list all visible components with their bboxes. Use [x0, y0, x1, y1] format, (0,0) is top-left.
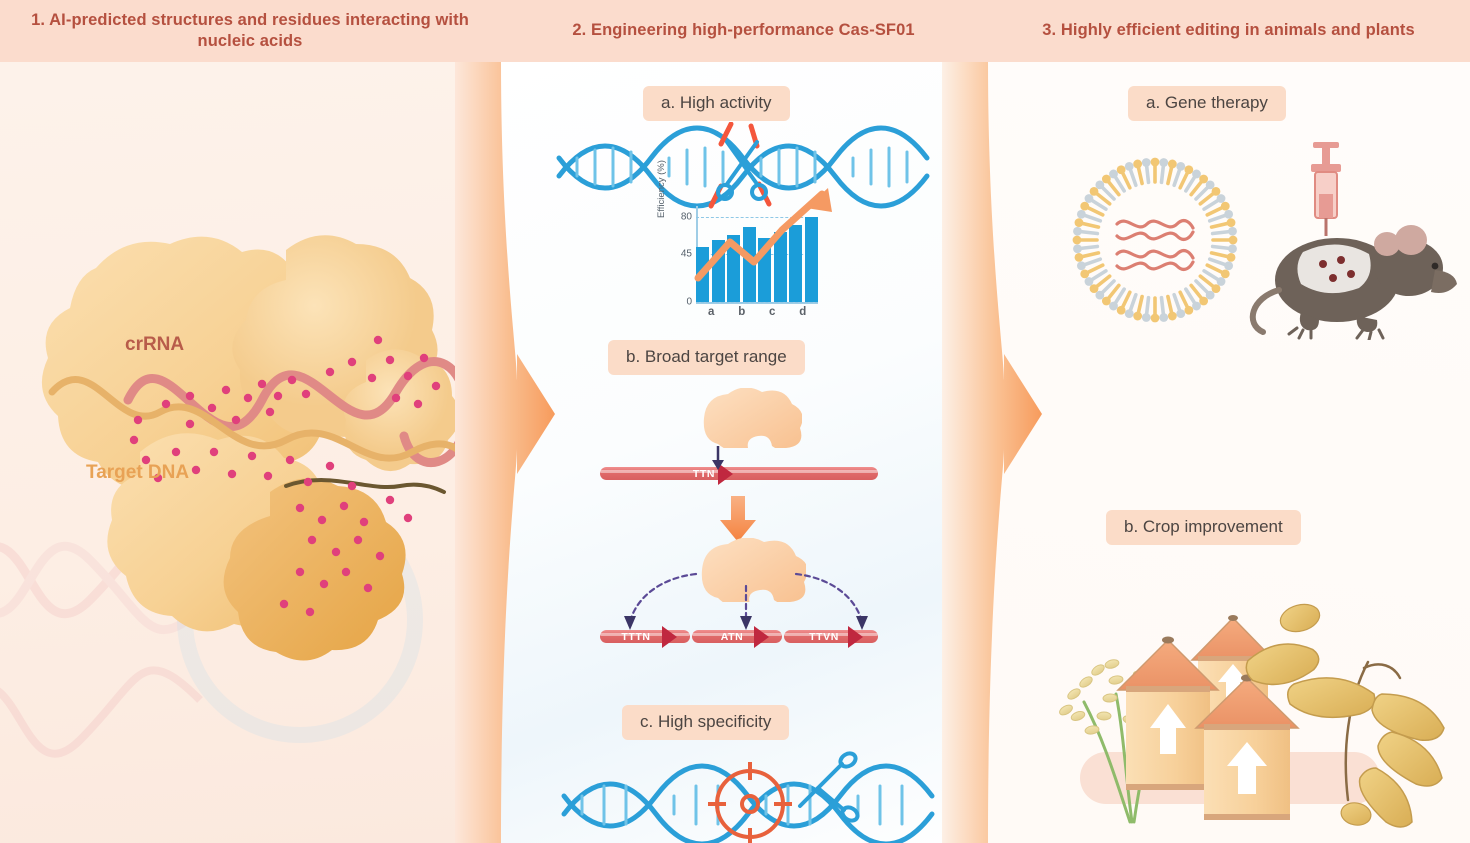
lipid-head-icon — [1151, 314, 1160, 323]
pam-label-2: ATN — [721, 631, 744, 643]
dna-strand-pam-a: TTTN — [600, 630, 690, 643]
efficiency-bar-chart: Efficiency (%) 04580 abcd — [660, 200, 830, 328]
lipid-head-icon — [1176, 162, 1185, 171]
lipid-head-icon — [1168, 312, 1177, 321]
specificity-illustration — [560, 748, 960, 843]
dna-cargo-icon — [1117, 221, 1193, 270]
lipid-head-icon — [1109, 302, 1118, 311]
pam-marker-icon-2 — [754, 626, 769, 648]
panel-2-header-text: 2. Engineering high-performance Cas-SF01 — [572, 20, 914, 41]
lipid-head-icon — [1095, 291, 1104, 300]
lipid-head-icon — [1095, 180, 1104, 189]
lipid-head-icon — [1142, 313, 1151, 322]
pam-label-3: TTVN — [809, 631, 839, 643]
cleavage-pointer-icon — [708, 446, 728, 470]
label-broad-target-range: b. Broad target range — [608, 340, 805, 375]
cas-protein-icon-single — [690, 388, 802, 448]
lipid-head-icon — [1212, 284, 1221, 293]
lipid-head-icon — [1192, 170, 1201, 179]
label-target-dna: Target DNA — [86, 462, 189, 484]
lipid-head-icon — [1159, 313, 1168, 322]
lipid-head-icon — [1142, 158, 1151, 167]
scissors-icon — [718, 142, 766, 199]
lipid-head-icon — [1206, 291, 1215, 300]
lipid-nanoparticle-icon — [1065, 150, 1245, 330]
chart-y-tick-0: 0 — [686, 297, 692, 308]
lipid-head-icon — [1109, 170, 1118, 179]
lipid-head-icon — [1133, 160, 1142, 169]
lipid-head-icon — [1199, 175, 1208, 184]
lipid-head-icon — [1133, 312, 1142, 321]
lipid-head-icon — [1085, 194, 1094, 203]
lipid-head-icon — [1073, 236, 1082, 245]
lipid-head-icon — [1212, 187, 1221, 196]
lipid-head-icon — [1227, 253, 1236, 262]
lipid-head-icon — [1073, 227, 1082, 236]
lipid-head-icon — [1077, 210, 1086, 219]
lipid-head-icon — [1117, 165, 1126, 174]
lipid-head-icon — [1125, 309, 1134, 318]
chart-x-tick-1: b — [738, 306, 745, 318]
lipid-head-icon — [1192, 302, 1201, 311]
lipid-head-icon — [1206, 180, 1215, 189]
panel-1-header-text: 1. AI-predicted structures and residues … — [14, 10, 486, 52]
lipid-head-icon — [1102, 175, 1111, 184]
dna-strand-single-pam: TTN — [600, 467, 878, 480]
lipid-head-icon — [1168, 160, 1177, 169]
pam-label-1: TTTN — [621, 631, 650, 643]
panel-3-header: 3. Highly efficient editing in animals a… — [987, 0, 1470, 62]
label-high-activity: a. High activity — [643, 86, 790, 121]
label-crop-improvement: b. Crop improvement — [1106, 510, 1301, 545]
down-arrow-icon — [718, 496, 758, 542]
dna-strand-pam-c: TTVN — [784, 630, 878, 643]
lipid-head-icon — [1228, 244, 1237, 253]
chart-x-tick-3: d — [799, 306, 806, 318]
lipid-head-icon — [1117, 306, 1126, 315]
lipid-head-icon — [1184, 165, 1193, 174]
lipid-head-icon — [1075, 253, 1084, 262]
lipid-head-icon — [1102, 297, 1111, 306]
lipid-head-icon — [1090, 187, 1099, 196]
dna-cut-illustration — [555, 122, 935, 212]
mouse-icon — [1253, 225, 1457, 340]
lipid-head-icon — [1080, 269, 1089, 278]
crop-improvement-illustration — [1012, 590, 1452, 843]
panel-1-artwork — [0, 0, 500, 781]
lipid-head-icon — [1085, 277, 1094, 286]
lipid-head-icon — [1224, 210, 1233, 219]
label-gene-therapy: a. Gene therapy — [1128, 86, 1286, 121]
syringe-icon — [1311, 142, 1341, 236]
lipid-head-icon — [1199, 297, 1208, 306]
lipid-head-icon — [1217, 194, 1226, 203]
chart-x-tick-2: c — [769, 306, 775, 318]
lipid-head-icon — [1080, 202, 1089, 211]
panel-ai-prediction: crRNA Target DNA — [0, 0, 500, 843]
lipid-head-icon — [1075, 218, 1084, 227]
lipid-head-icon — [1077, 261, 1086, 270]
pam-marker-icon-3 — [848, 626, 863, 648]
panel-1-header: 1. AI-predicted structures and residues … — [0, 0, 500, 62]
pam-dispersion-arrows-icon — [600, 560, 890, 638]
lipid-head-icon — [1229, 236, 1238, 245]
lipid-head-icon — [1073, 244, 1082, 253]
graphical-abstract: crRNA Target DNA — [0, 0, 1470, 843]
lipid-head-icon — [1184, 306, 1193, 315]
pam-marker-icon-1 — [662, 626, 677, 648]
lipid-head-icon — [1221, 202, 1230, 211]
lipid-head-icon — [1159, 158, 1168, 167]
protein-surface-icon — [42, 235, 460, 660]
lipid-head-icon — [1227, 218, 1236, 227]
trend-arrow-icon — [696, 200, 832, 306]
chart-x-tick-0: a — [708, 306, 714, 318]
chart-y-tick-1: 45 — [681, 249, 692, 260]
lipid-head-icon — [1176, 309, 1185, 318]
label-crrna: crRNA — [125, 334, 184, 356]
mouse-with-syringe-icon — [1245, 140, 1460, 340]
dna-strand-pam-b: ATN — [692, 630, 782, 643]
label-high-specificity: c. High specificity — [622, 705, 789, 740]
lipid-head-icon — [1217, 277, 1226, 286]
lipid-head-icon — [1090, 284, 1099, 293]
chart-y-tick-2: 80 — [681, 211, 692, 222]
lipid-head-icon — [1151, 158, 1160, 167]
lipid-head-icon — [1221, 269, 1230, 278]
lipid-head-icon — [1224, 261, 1233, 270]
panel-2-header: 2. Engineering high-performance Cas-SF01 — [500, 0, 987, 62]
lipid-head-icon — [1125, 162, 1134, 171]
chart-y-axis-label: Efficiency (%) — [656, 144, 667, 218]
panel-3-header-text: 3. Highly efficient editing in animals a… — [1042, 20, 1415, 41]
lipid-head-icon — [1228, 227, 1237, 236]
